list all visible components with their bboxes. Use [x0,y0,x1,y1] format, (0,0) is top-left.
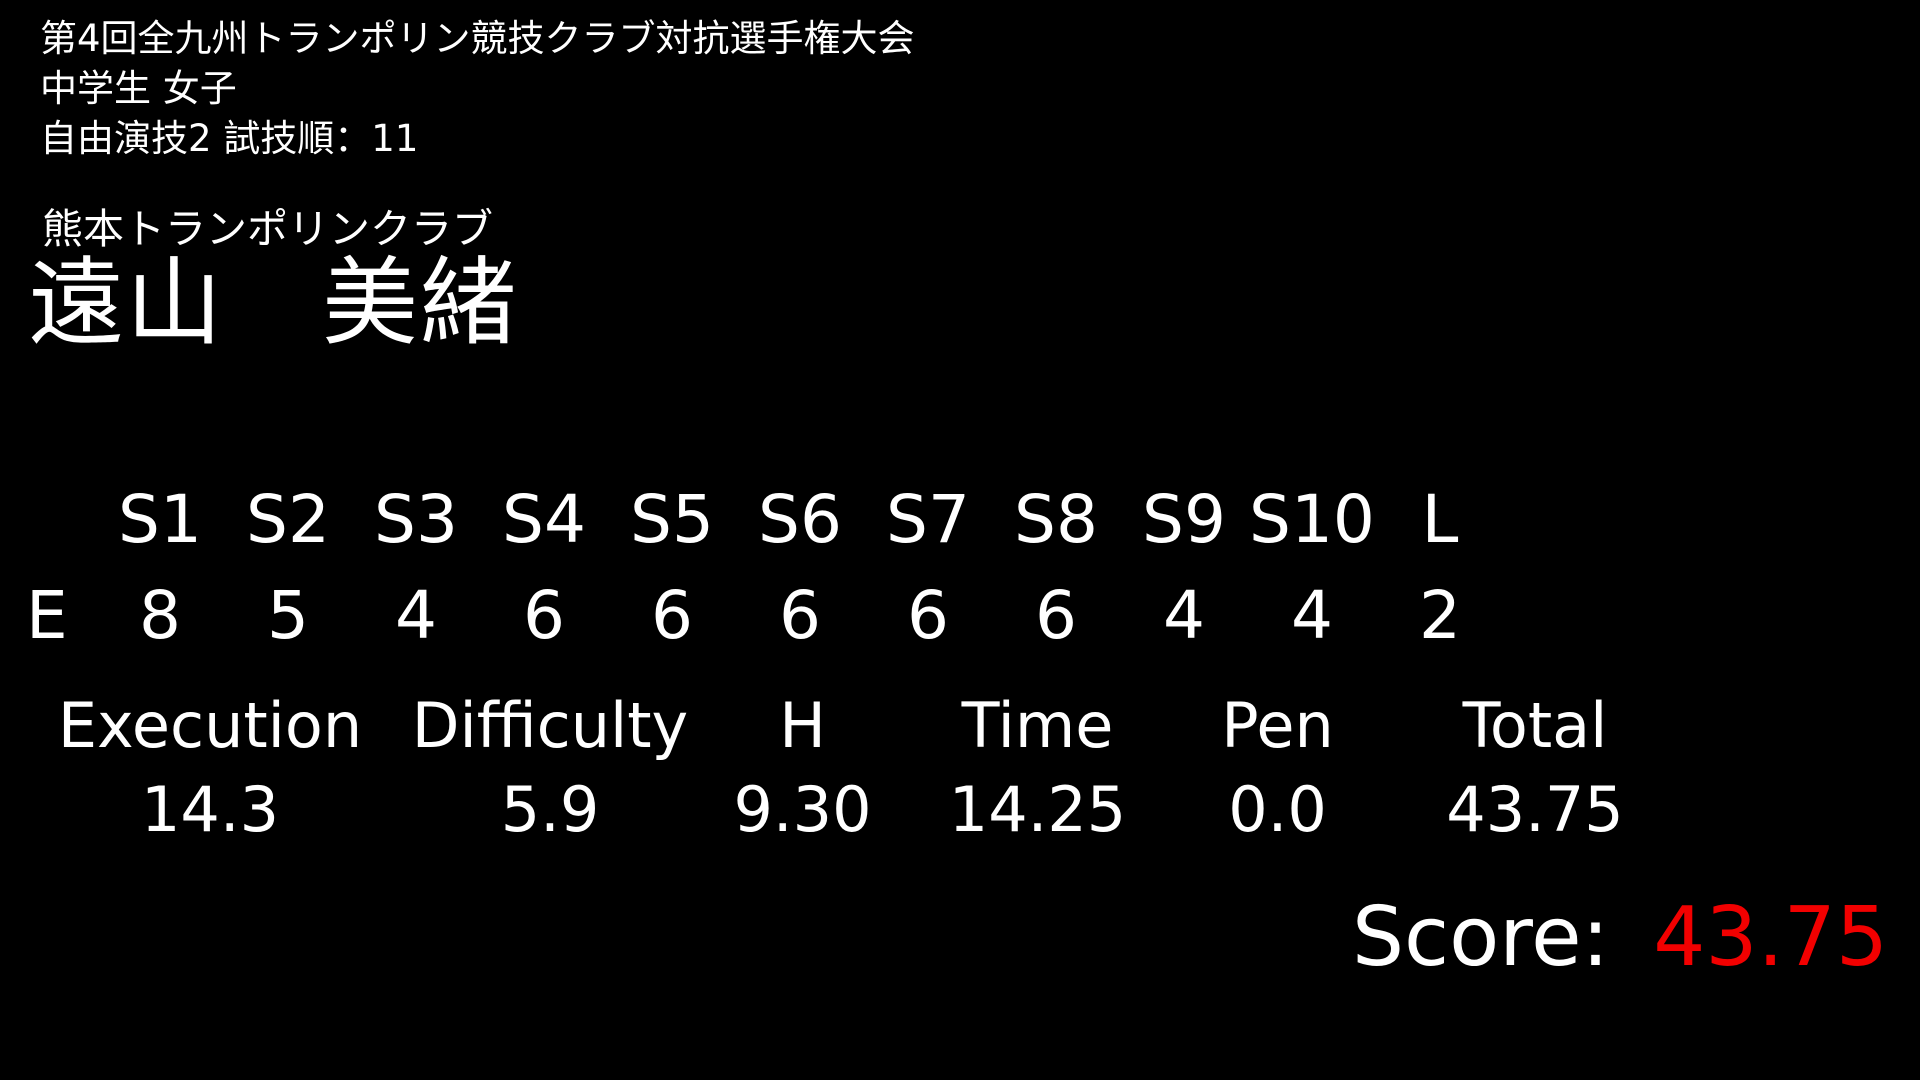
event-title: 第4回全九州トランポリン競技クラブ対抗選手権大会 [40,14,915,64]
judges-header-row: S1 S2 S3 S4 S5 S6 S7 S8 S9 S10 L [26,472,1894,568]
summary-header-execution: Execution [20,684,400,768]
execution-deduction-s7: 6 [864,568,992,664]
summary-header-h: H [700,684,905,768]
judge-column-s2: S2 [224,472,352,568]
summary-value-h: 9.30 [700,768,905,852]
athlete-name: 遠山 美緒 [28,248,518,358]
summary-table: Execution Difficulty H Time Pen Total 14… [20,684,1900,852]
summary-value-total: 43.75 [1385,768,1685,852]
summary-value-pen: 0.0 [1170,768,1385,852]
execution-deduction-s2: 5 [224,568,352,664]
scoreboard-overlay: 第4回全九州トランポリン競技クラブ対抗選手権大会 中学生 女子 自由演技2 試技… [0,0,1920,1080]
judge-column-l: L [1376,472,1504,568]
execution-deduction-s9: 4 [1120,568,1248,664]
summary-header-row: Execution Difficulty H Time Pen Total [20,684,1900,768]
execution-row-label: E [26,568,96,664]
final-score-label: Score: [1352,888,1609,988]
event-category: 中学生 女子 [40,64,915,114]
judge-column-s10: S10 [1248,472,1376,568]
summary-header-time: Time [905,684,1170,768]
event-routine: 自由演技2 試技順：11 [40,114,915,164]
summary-header-difficulty: Difficulty [400,684,700,768]
judge-column-s5: S5 [608,472,736,568]
judge-column-s6: S6 [736,472,864,568]
execution-deduction-l: 2 [1376,568,1504,664]
summary-value-row: 14.3 5.9 9.30 14.25 0.0 43.75 [20,768,1900,852]
judge-column-s9: S9 [1120,472,1248,568]
summary-header-pen: Pen [1170,684,1385,768]
judge-column-s3: S3 [352,472,480,568]
execution-deduction-s6: 6 [736,568,864,664]
judge-column-s4: S4 [480,472,608,568]
summary-value-difficulty: 5.9 [400,768,700,852]
athlete-club: 熊本トランポリンクラブ [42,205,493,253]
summary-value-time: 14.25 [905,768,1170,852]
execution-deduction-s8: 6 [992,568,1120,664]
judge-column-s1: S1 [96,472,224,568]
execution-deduction-s10: 4 [1248,568,1376,664]
judges-execution-row: E 8 5 4 6 6 6 6 6 4 4 2 [26,568,1894,664]
execution-deduction-s4: 6 [480,568,608,664]
execution-deduction-s1: 8 [96,568,224,664]
summary-header-total: Total [1385,684,1685,768]
execution-deduction-s5: 6 [608,568,736,664]
judge-column-s7: S7 [864,472,992,568]
summary-value-execution: 14.3 [20,768,400,852]
judges-table: S1 S2 S3 S4 S5 S6 S7 S8 S9 S10 L E 8 5 4… [26,472,1894,664]
event-header: 第4回全九州トランポリン競技クラブ対抗選手権大会 中学生 女子 自由演技2 試技… [40,14,915,164]
execution-deduction-s3: 4 [352,568,480,664]
final-score-value: 43.75 [1653,888,1888,988]
judge-column-s8: S8 [992,472,1120,568]
final-score: Score: 43.75 [1352,888,1888,988]
